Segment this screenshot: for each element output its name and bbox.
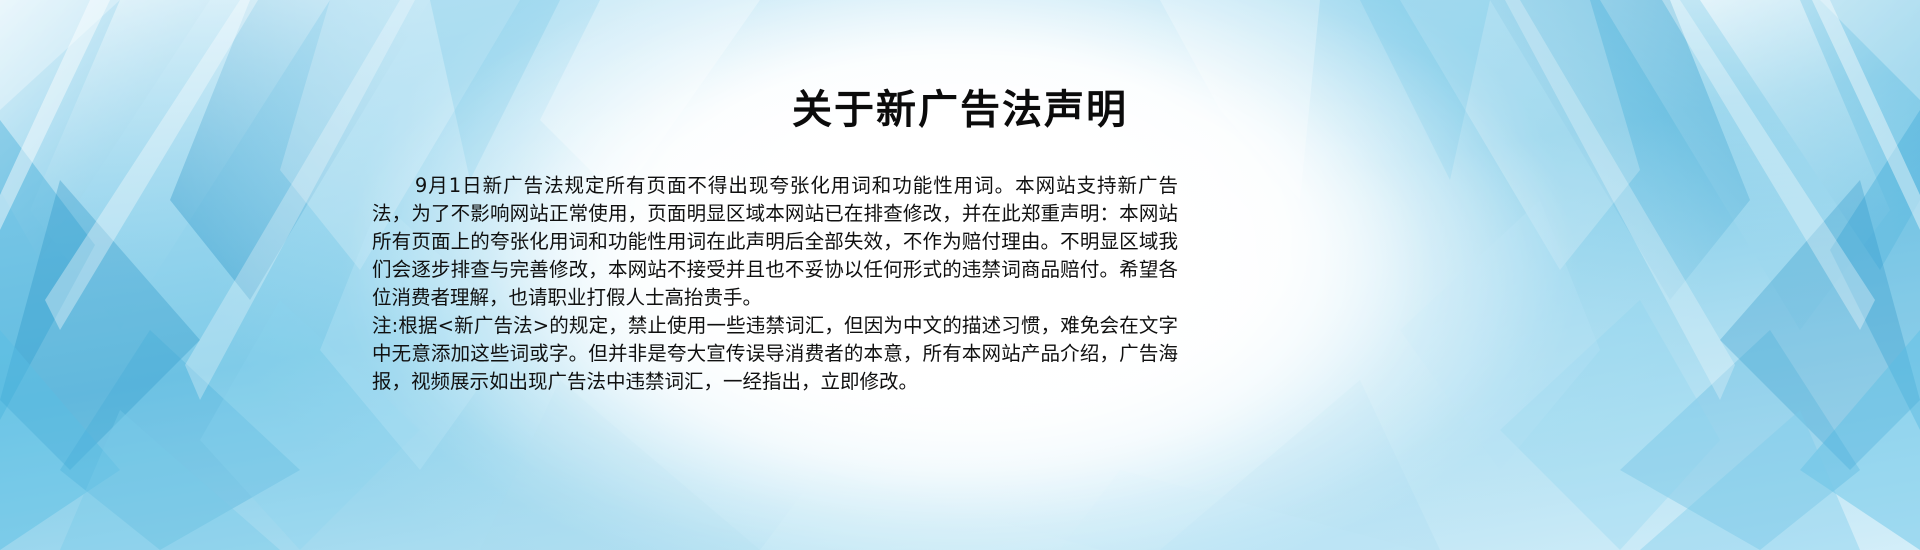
statement-body: 9月1日新广告法规定所有页面不得出现夸张化用词和功能性用词。本网站支持新广告法，… (372, 172, 1178, 396)
page-title: 关于新广告法声明 (0, 88, 1920, 132)
statement-paragraph-2: 注:根据<新广告法>的规定，禁止使用一些违禁词汇，但因为中文的描述习惯，难免会在… (372, 312, 1178, 396)
statement-paragraph-1-text: 9月1日新广告法规定所有页面不得出现夸张化用词和功能性用词。本网站支持新广告法，… (372, 174, 1178, 309)
advertising-law-statement-banner: 关于新广告法声明 9月1日新广告法规定所有页面不得出现夸张化用词和功能性用词。本… (0, 0, 1920, 550)
statement-paragraph-1: 9月1日新广告法规定所有页面不得出现夸张化用词和功能性用词。本网站支持新广告法，… (372, 172, 1178, 312)
statement-content: 关于新广告法声明 9月1日新广告法规定所有页面不得出现夸张化用词和功能性用词。本… (0, 0, 1920, 550)
